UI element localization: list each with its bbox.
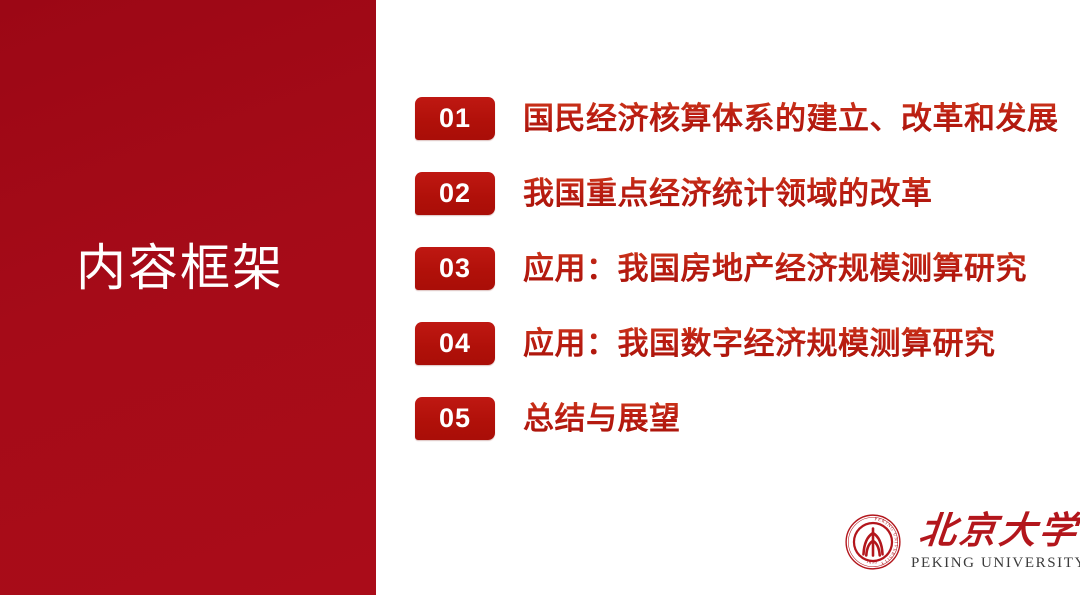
- agenda-item-label: 总结与展望: [523, 398, 681, 439]
- agenda-item-05[interactable]: 05 总结与展望: [415, 397, 1075, 472]
- agenda-item-label: 我国重点经济统计领域的改革: [523, 173, 933, 214]
- agenda-item-label: 应用：我国数字经济规模测算研究: [523, 323, 996, 364]
- agenda-item-label: 国民经济核算体系的建立、改革和发展: [523, 98, 1059, 139]
- left-title-panel: 内容框架: [0, 0, 376, 595]
- agenda-number-badge: 05: [415, 397, 495, 440]
- page-title: 内容框架: [0, 238, 360, 298]
- agenda-number-badge: 01: [415, 97, 495, 140]
- slide-content-framework: 内容框架 01 国民经济核算体系的建立、改革和发展 02 我国重点经济统计领域的…: [0, 0, 1080, 595]
- agenda-number-badge: 03: [415, 247, 495, 290]
- agenda-number-badge: 04: [415, 322, 495, 365]
- agenda-list: 01 国民经济核算体系的建立、改革和发展 02 我国重点经济统计领域的改革 03…: [415, 97, 1075, 472]
- agenda-item-03[interactable]: 03 应用：我国房地产经济规模测算研究: [415, 247, 1075, 322]
- pku-wordmark: 北京大学 PEKING UNIVERSITY: [911, 512, 1080, 572]
- agenda-item-02[interactable]: 02 我国重点经济统计领域的改革: [415, 172, 1075, 247]
- agenda-item-label: 应用：我国房地产经济规模测算研究: [523, 248, 1027, 289]
- pku-name-english: PEKING UNIVERSITY: [911, 554, 1080, 572]
- agenda-number-badge: 02: [415, 172, 495, 215]
- pku-name-chinese: 北京大学: [917, 512, 1080, 552]
- peking-university-logo: PEKING UNIVERSITY 1898 北京大学 PEKING UNIVE…: [845, 512, 1065, 584]
- agenda-item-04[interactable]: 04 应用：我国数字经济规模测算研究: [415, 322, 1075, 397]
- peking-university-seal-icon: PEKING UNIVERSITY 1898: [845, 514, 901, 570]
- agenda-item-01[interactable]: 01 国民经济核算体系的建立、改革和发展: [415, 97, 1075, 172]
